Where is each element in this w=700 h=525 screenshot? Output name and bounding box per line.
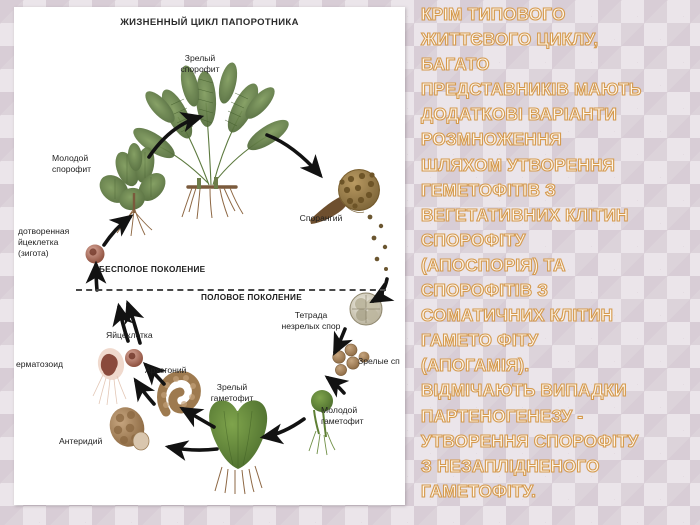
label-mature-spores: Зрелые сп: [358, 356, 405, 367]
label-spermatozoid: ерматозоид: [16, 359, 84, 370]
slide-body-paragraph: Крім типового життєвого циклу, багато пр…: [421, 2, 700, 504]
label-egg-cell: Яйцеклетка: [106, 330, 168, 341]
label-young-sporophyte: Молодой спорофит: [52, 153, 122, 174]
generation-divider: [76, 289, 386, 291]
label-mature-sporophyte: Зрелый спорофит: [164, 53, 236, 74]
arrow-to-zygote: [96, 265, 97, 290]
arrow-gametophyte-to-antheridium: [169, 447, 217, 450]
label-young-gametophyte: Молодой гаметофит: [321, 405, 387, 426]
label-antheridium: Антеридий: [59, 436, 125, 447]
archegonium-illustration: [161, 375, 196, 412]
presentation-slide: ЖИЗНЕННЫЙ ЦИКЛ ПАПОРОТНИКА: [0, 0, 700, 525]
label-archegonium: Архегоний: [145, 365, 205, 376]
slide-body-text: Крім типового життєвого циклу, багато пр…: [421, 2, 700, 523]
fern-life-cycle-diagram-panel: ЖИЗНЕННЫЙ ЦИКЛ ПАПОРОТНИКА: [14, 7, 405, 505]
label-zygote: дотворенная йцеклетка (зигота): [18, 226, 90, 259]
diagram-canvas: ЖИЗНЕННЫЙ ЦИКЛ ПАПОРОТНИКА: [14, 7, 405, 505]
arrow-tetrad-to-mature-spores: [335, 329, 345, 352]
mature-gametophyte-illustration: [209, 400, 267, 494]
label-sporangium: Спорангий: [291, 213, 351, 224]
arrow-zygote-to-young-sporophyte: [104, 217, 130, 245]
label-sexual-generation: ПОЛОВОЕ ПОКОЛЕНИЕ: [201, 293, 302, 302]
label-spore-tetrad: Тетрада незрелых спор: [267, 310, 355, 331]
egg-cell-illustration: [125, 349, 143, 367]
label-mature-gametophyte: Зрелый гаметофит: [196, 382, 268, 403]
arrow-spores-to-young-gametophyte: [328, 378, 344, 393]
label-asexual-generation: БЕСПОЛОЕ ПОКОЛЕНИЕ: [99, 265, 205, 274]
arrow-young-to-mature-gametophyte: [264, 419, 304, 437]
arrow-antheridium-to-spermatozoid: [136, 381, 154, 404]
spermatozoid-illustration: [93, 346, 127, 405]
